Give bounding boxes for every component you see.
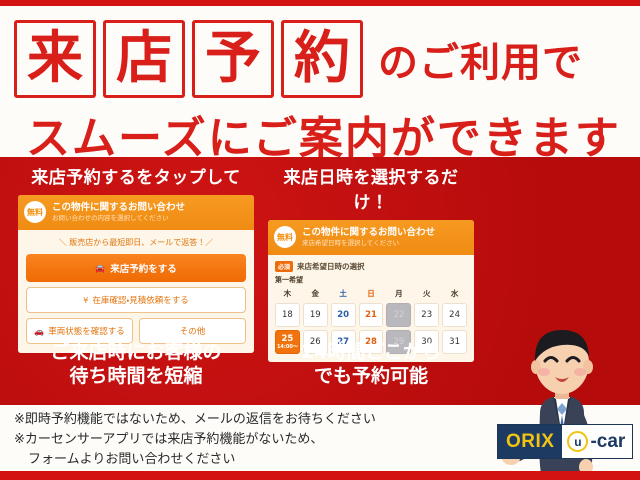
weekday-wed: 水 <box>442 288 467 300</box>
inquiry-form-mock: 無料 この物件に関するお問い合わせ お問い合わせの内容を選択してください ＼ 販… <box>18 195 254 353</box>
logo-ucar-block: u -car <box>562 425 632 458</box>
red-feature-panel: 来店予約するをタップして 無料 この物件に関するお問い合わせ お問い合わせの内容… <box>0 157 640 405</box>
headline-tail: のご利用で <box>378 30 583 88</box>
free-badge: 無料 <box>274 226 296 248</box>
inquiry-mock-header: 無料 この物件に関するお問い合わせ お問い合わせの内容を選択してください <box>18 195 254 230</box>
car-icon: 🚘 <box>95 264 105 273</box>
weekday-sat: 土 <box>331 288 356 300</box>
right-caption-line2: でも予約可能 <box>268 365 474 389</box>
left-caption-line1: ご来店時にお客様の <box>18 341 254 365</box>
calendar-day-number: 19 <box>310 310 321 320</box>
free-badge: 無料 <box>24 201 46 223</box>
footer-note-1: ※即時予約機能ではないため、メールの返信をお待ちください <box>14 410 484 430</box>
calendar-weekday-header: 木 金 土 日 月 火 水 <box>275 288 467 300</box>
calendar-section-label: 必須 来店希望日時の選択 <box>275 261 467 272</box>
inquiry-header-subtitle: お問い合わせの内容を選択してください <box>52 214 185 222</box>
calendar-header-title: この物件に関するお問い合わせ <box>302 227 435 239</box>
weekday-thu: 木 <box>275 288 300 300</box>
inquiry-mock-body: ＼ 販売店から最短即日、メールで返答！／ 🚘 来店予約をする ¥ 在庫確認・見積… <box>18 230 254 353</box>
calendar-day-cell-disabled: 22 <box>386 303 411 327</box>
right-column: 来店日時を選択するだけ！ 無料 この物件に関するお問い合わせ 来店希望日時を選択… <box>268 163 474 362</box>
inquiry-promo-text: ＼ 販売店から最短即日、メールで返答！／ <box>26 237 246 248</box>
calendar-day-cell[interactable]: 23 <box>414 303 439 327</box>
calendar-day-number: 23 <box>421 310 432 320</box>
calendar-day-number: 24 <box>449 310 460 320</box>
yen-icon: ¥ <box>83 296 88 305</box>
preference-label: 第一希望 <box>275 275 467 285</box>
left-caption: ご来店時にお客様の 待ち時間を短縮 <box>18 341 254 389</box>
inquiry-header-title: この物件に関するお問い合わせ <box>52 202 185 214</box>
calendar-day-cell[interactable]: 21 <box>359 303 384 327</box>
calendar-day-cell[interactable]: 24 <box>442 303 467 327</box>
logo-u-circle: u <box>567 431 588 452</box>
promo-banner: 来 店 予 約 のご利用で スムーズにご案内ができます 来店予約するをタップして… <box>0 0 640 480</box>
headline-block: 来 店 予 約 のご利用で スムーズにご案内ができます <box>0 6 640 156</box>
weekday-mon: 月 <box>386 288 411 300</box>
weekday-sun: 日 <box>359 288 384 300</box>
car-icon: 🚗 <box>34 327 44 336</box>
weekday-tue: 火 <box>414 288 439 300</box>
calendar-day-number: 20 <box>337 310 349 320</box>
calendar-section-label-text: 来店希望日時の選択 <box>297 261 365 272</box>
bottom-red-rule <box>0 471 640 480</box>
left-column: 来店予約するをタップして 無料 この物件に関するお問い合わせ お問い合わせの内容… <box>18 163 254 353</box>
headline-kanji-3: 予 <box>192 20 274 98</box>
calendar-day-number: 21 <box>365 310 377 320</box>
stock-quote-button-label: 在庫確認・見積依頼をする <box>92 294 188 306</box>
other-button-label: その他 <box>180 325 206 337</box>
calendar-day-cell[interactable]: 18 <box>275 303 300 327</box>
logo-orix-text: ORIX <box>498 425 562 458</box>
weekday-fri: 金 <box>303 288 328 300</box>
calendar-header-subtitle: 来店希望日時を選択してください <box>302 239 435 247</box>
vehicle-condition-button-label: 車両状態を確認する <box>48 325 125 337</box>
calendar-day-number: 22 <box>393 310 404 320</box>
footer-note-3: フォームよりお問い合わせください <box>14 450 484 470</box>
footer-note-2: ※カーセンサーアプリでは来店予約機能がないため、 <box>14 430 484 450</box>
right-caption-line1: 24時間どこから <box>268 341 474 365</box>
left-caption-line2: 待ち時間を短縮 <box>18 365 254 389</box>
reserve-visit-button-label: 来店予約をする <box>110 261 177 275</box>
reserve-visit-button[interactable]: 🚘 来店予約をする <box>26 254 246 282</box>
calendar-day-cell[interactable]: 20 <box>331 303 356 327</box>
required-badge: 必須 <box>275 261 293 272</box>
calendar-day-cell[interactable]: 19 <box>303 303 328 327</box>
right-caption: 24時間どこから でも予約可能 <box>268 341 474 389</box>
calendar-week-1: 18 19 20 21 22 23 24 <box>275 303 467 327</box>
left-column-title: 来店予約するをタップして <box>18 163 254 188</box>
headline-line1: 来 店 予 約 のご利用で <box>14 20 583 98</box>
calendar-day-number: 18 <box>282 310 293 320</box>
right-column-title: 来店日時を選択するだけ！ <box>268 163 474 213</box>
footer-notes: ※即時予約機能ではないため、メールの返信をお待ちください ※カーセンサーアプリで… <box>14 410 484 470</box>
headline-kanji-2: 店 <box>103 20 185 98</box>
headline-kanji-1: 来 <box>14 20 96 98</box>
logo-car-text: -car <box>590 431 625 453</box>
orix-ucar-logo: ORIX u -car <box>497 424 633 459</box>
stock-quote-button[interactable]: ¥ 在庫確認・見積依頼をする <box>26 287 246 313</box>
headline-kanji-4: 約 <box>281 20 363 98</box>
calendar-mock-header: 無料 この物件に関するお問い合わせ 来店希望日時を選択してください <box>268 220 474 255</box>
